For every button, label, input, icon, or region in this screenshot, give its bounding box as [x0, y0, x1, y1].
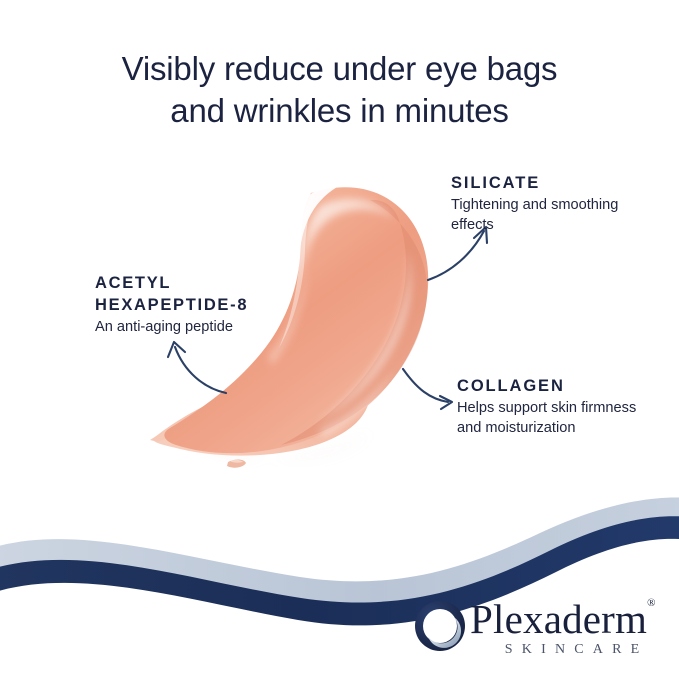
- callout-silicate-title: SILICATE: [451, 172, 618, 194]
- callout-collagen: COLLAGEN Helps support skin firmness and…: [457, 375, 636, 438]
- marketing-image: Visibly reduce under eye bags and wrinkl…: [0, 0, 679, 679]
- logo-subtitle: SKINCARE: [470, 642, 670, 658]
- callout-collagen-title: COLLAGEN: [457, 375, 636, 397]
- registered-trademark-icon: ®: [647, 598, 656, 609]
- headline-line-2: and wrinkles in minutes: [0, 90, 679, 132]
- logo-brand-text: Plexaderm: [470, 596, 647, 642]
- collagen-arrow-icon: [403, 369, 452, 409]
- callout-collagen-desc-line-2: and moisturization: [457, 419, 636, 438]
- callout-acetyl-hexapeptide-8: ACETYL HEXAPEPTIDE-8 An anti-aging pepti…: [95, 272, 248, 338]
- callout-collagen-desc-line-1: Helps support skin firmness: [457, 399, 636, 418]
- silicate-arrow-icon: [428, 227, 487, 280]
- headline-line-1: Visibly reduce under eye bags: [0, 48, 679, 90]
- brand-logo: Plexaderm® SKINCARE: [414, 596, 664, 662]
- logo-brand-name: Plexaderm®: [470, 596, 670, 643]
- callout-acetyl-title-line-2: HEXAPEPTIDE-8: [95, 294, 248, 316]
- page-title: Visibly reduce under eye bags and wrinkl…: [0, 48, 679, 132]
- callout-acetyl-title-line-1: ACETYL: [95, 272, 248, 294]
- callout-collagen-description: Helps support skin firmness and moisturi…: [457, 399, 636, 438]
- callout-silicate-desc-line-1: Tightening and smoothing: [451, 196, 618, 215]
- logo-wordmark: Plexaderm® SKINCARE: [470, 596, 670, 658]
- callout-silicate-description: Tightening and smoothing effects: [451, 196, 618, 235]
- acetyl-arrow-icon: [168, 342, 226, 393]
- callout-silicate: SILICATE Tightening and smoothing effect…: [451, 172, 618, 235]
- callout-acetyl-description: An anti-aging peptide: [95, 318, 248, 337]
- callout-acetyl-desc-line-1: An anti-aging peptide: [95, 318, 248, 337]
- callout-silicate-desc-line-2: effects: [451, 216, 618, 235]
